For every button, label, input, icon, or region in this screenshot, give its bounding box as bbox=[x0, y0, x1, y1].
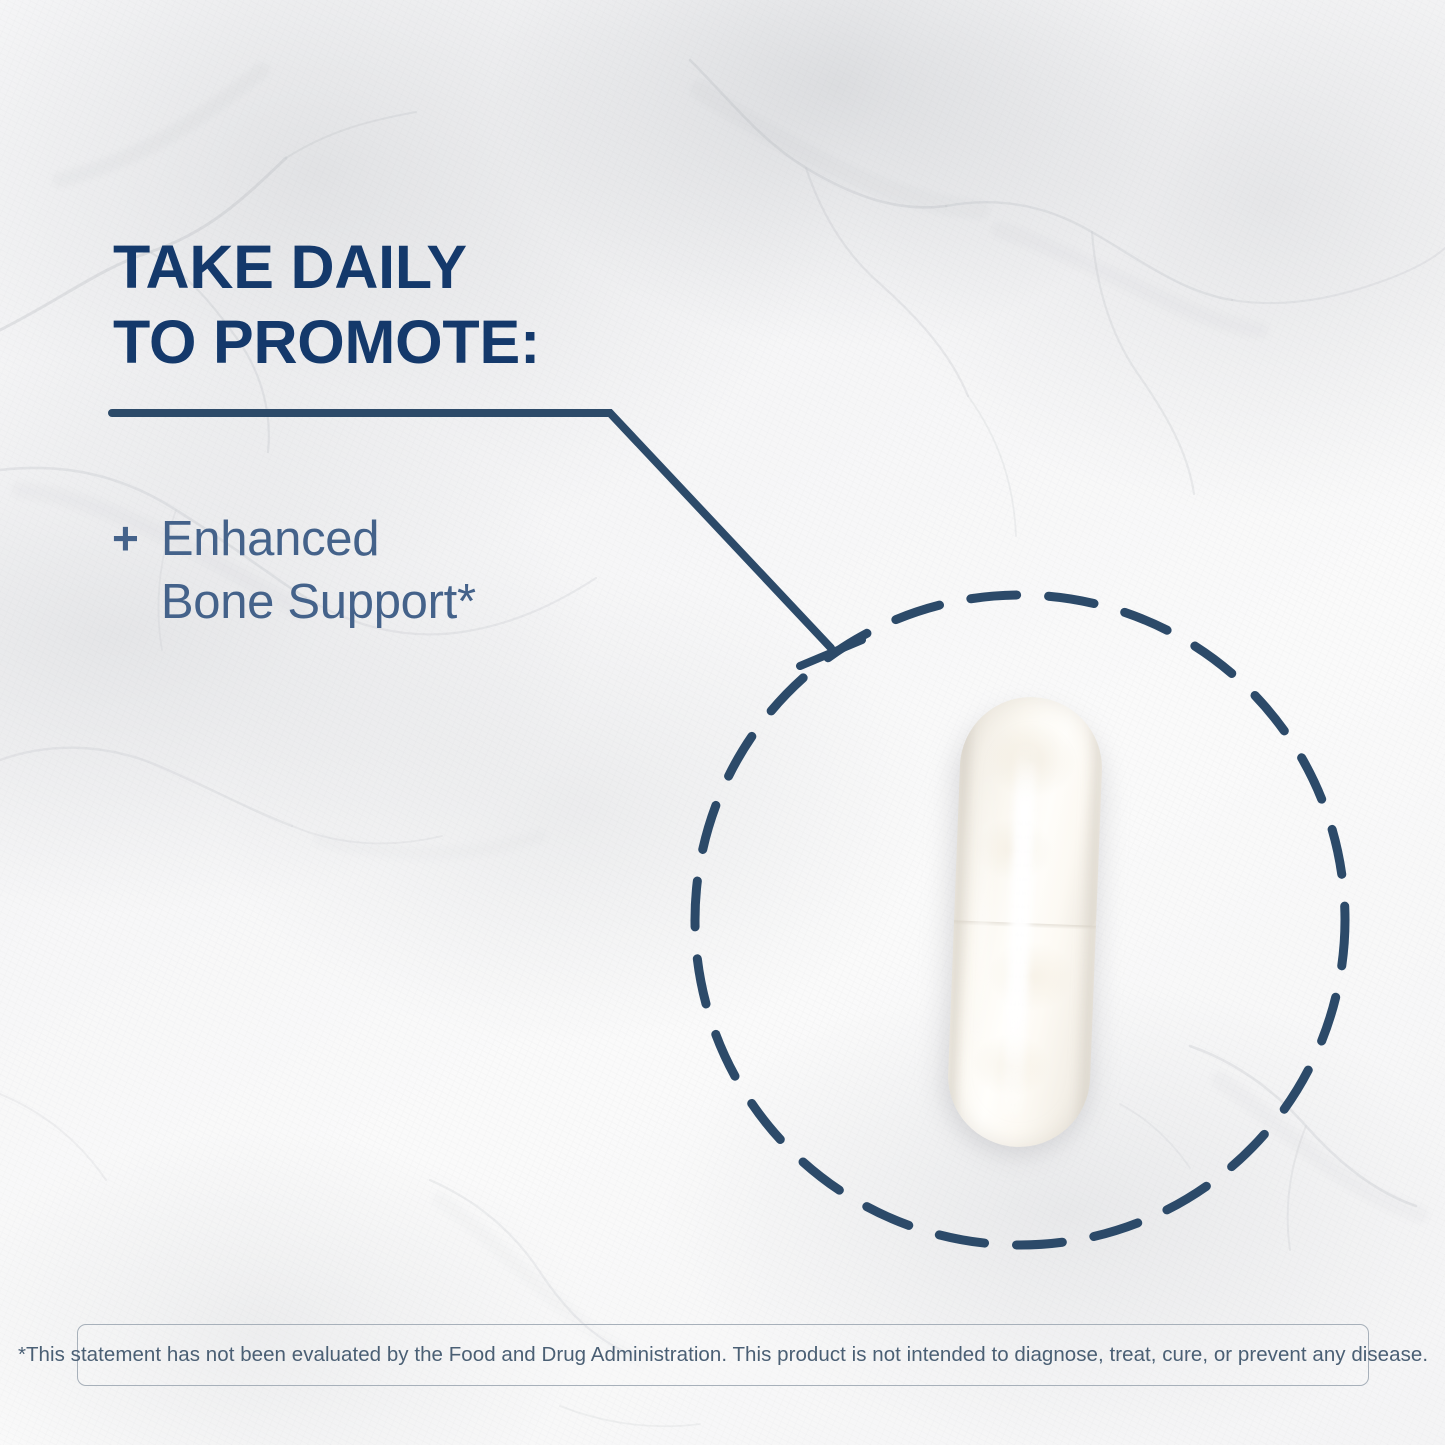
disclaimer-text: *This statement has not been evaluated b… bbox=[18, 1343, 1428, 1367]
marble-grain-overlay bbox=[0, 0, 1445, 1445]
benefit-label-line-2: Bone Support* bbox=[161, 571, 476, 634]
plus-icon: + bbox=[112, 510, 139, 566]
benefit-label: Enhanced Bone Support* bbox=[161, 508, 476, 633]
white-capsule bbox=[937, 694, 1110, 1152]
benefit-item: + Enhanced Bone Support* bbox=[112, 508, 732, 633]
capsule-body bbox=[945, 694, 1104, 1149]
page-title: TAKE DAILY TO PROMOTE: bbox=[113, 230, 813, 380]
product-benefit-graphic: TAKE DAILY TO PROMOTE: + Enhanced Bone S… bbox=[0, 0, 1445, 1445]
benefit-label-line-1: Enhanced bbox=[161, 508, 476, 571]
headline-line-2: TO PROMOTE: bbox=[113, 305, 813, 380]
disclaimer-box: *This statement has not been evaluated b… bbox=[77, 1324, 1369, 1386]
headline-line-1: TAKE DAILY bbox=[113, 230, 813, 305]
